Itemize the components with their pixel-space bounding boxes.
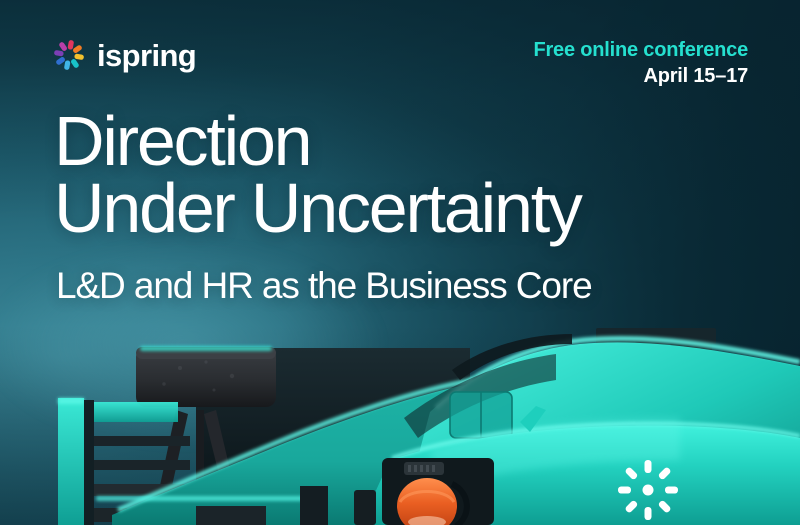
conference-info: Free online conference April 15–17 [533,38,748,89]
conference-banner: ispring Free online conference April 15–… [0,0,800,525]
ispring-pinwheel-logo-icon [52,38,86,72]
ispring-logo[interactable]: ispring [52,38,196,72]
subheadline: L&D and HR as the Business Core [56,266,592,307]
race-car-svg [0,310,800,525]
headline-line-2: Under Uncertainty [54,175,581,242]
ispring-wordmark: ispring [97,40,196,71]
conference-dates: April 15–17 [533,64,748,90]
headline-line-1: Direction [54,108,581,175]
race-car-illustration [0,310,800,525]
headline: Direction Under Uncertainty [54,108,581,242]
conference-tagline: Free online conference [533,38,748,64]
ispring-pinwheel-decal [618,460,678,520]
